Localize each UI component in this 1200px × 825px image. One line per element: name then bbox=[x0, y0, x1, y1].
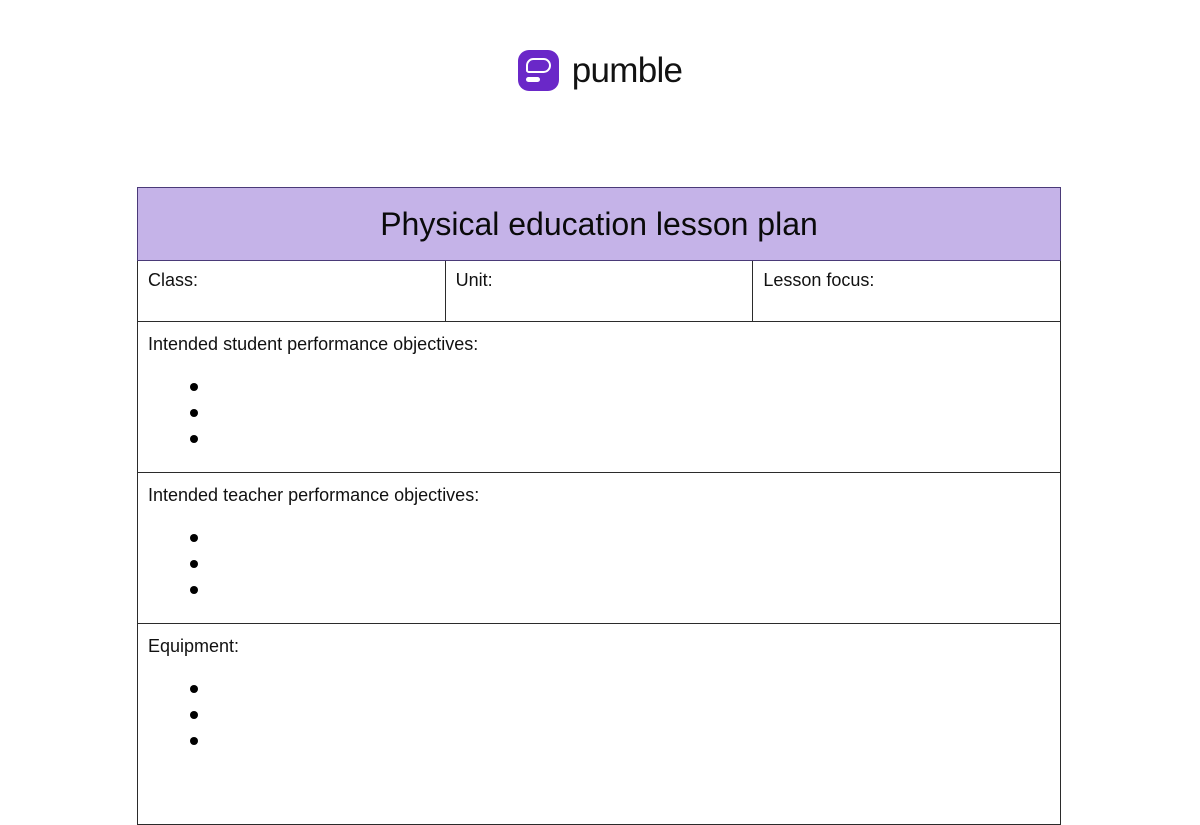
lesson-focus-field-label: Lesson focus: bbox=[763, 270, 874, 290]
unit-field-label: Unit: bbox=[456, 270, 493, 290]
teacher-objectives-bullet-list bbox=[148, 527, 1060, 605]
student-objectives-bullet-list bbox=[148, 376, 1060, 454]
list-item[interactable] bbox=[190, 402, 1060, 428]
list-item[interactable] bbox=[190, 376, 1060, 402]
brand-wordmark: pumble bbox=[572, 53, 683, 88]
document-title-cell: Physical education lesson plan bbox=[138, 188, 1061, 261]
list-item[interactable] bbox=[190, 678, 1060, 704]
pumble-chat-logo-icon bbox=[518, 50, 559, 91]
list-item[interactable] bbox=[190, 553, 1060, 579]
class-field-cell[interactable]: Class: bbox=[138, 261, 446, 322]
unit-field-cell[interactable]: Unit: bbox=[445, 261, 753, 322]
table-row-teacher-objectives: Intended teacher performance objectives: bbox=[138, 473, 1061, 624]
table-row-meta: Class: Unit: Lesson focus: bbox=[138, 261, 1061, 322]
logo-bar-shape bbox=[526, 77, 540, 82]
list-item[interactable] bbox=[190, 428, 1060, 454]
list-item[interactable] bbox=[190, 527, 1060, 553]
equipment-label: Equipment: bbox=[148, 634, 1060, 658]
speech-bubble-shape bbox=[526, 58, 551, 73]
table-row-student-objectives: Intended student performance objectives: bbox=[138, 322, 1061, 473]
student-objectives-label: Intended student performance objectives: bbox=[148, 332, 1060, 356]
list-item[interactable] bbox=[190, 579, 1060, 605]
brand-header: pumble bbox=[0, 50, 1200, 91]
teacher-objectives-label: Intended teacher performance objectives: bbox=[148, 483, 1060, 507]
lesson-plan-table: Physical education lesson plan Class: Un… bbox=[137, 187, 1061, 825]
student-objectives-cell[interactable]: Intended student performance objectives: bbox=[138, 322, 1061, 473]
page-title: Physical education lesson plan bbox=[380, 206, 818, 242]
table-row-title: Physical education lesson plan bbox=[138, 188, 1061, 261]
equipment-bullet-list bbox=[148, 678, 1060, 756]
list-item[interactable] bbox=[190, 730, 1060, 756]
teacher-objectives-cell[interactable]: Intended teacher performance objectives: bbox=[138, 473, 1061, 624]
list-item[interactable] bbox=[190, 704, 1060, 730]
table-row-equipment: Equipment: bbox=[138, 624, 1061, 825]
equipment-cell[interactable]: Equipment: bbox=[138, 624, 1061, 825]
class-field-label: Class: bbox=[148, 270, 198, 290]
lesson-focus-field-cell[interactable]: Lesson focus: bbox=[753, 261, 1061, 322]
